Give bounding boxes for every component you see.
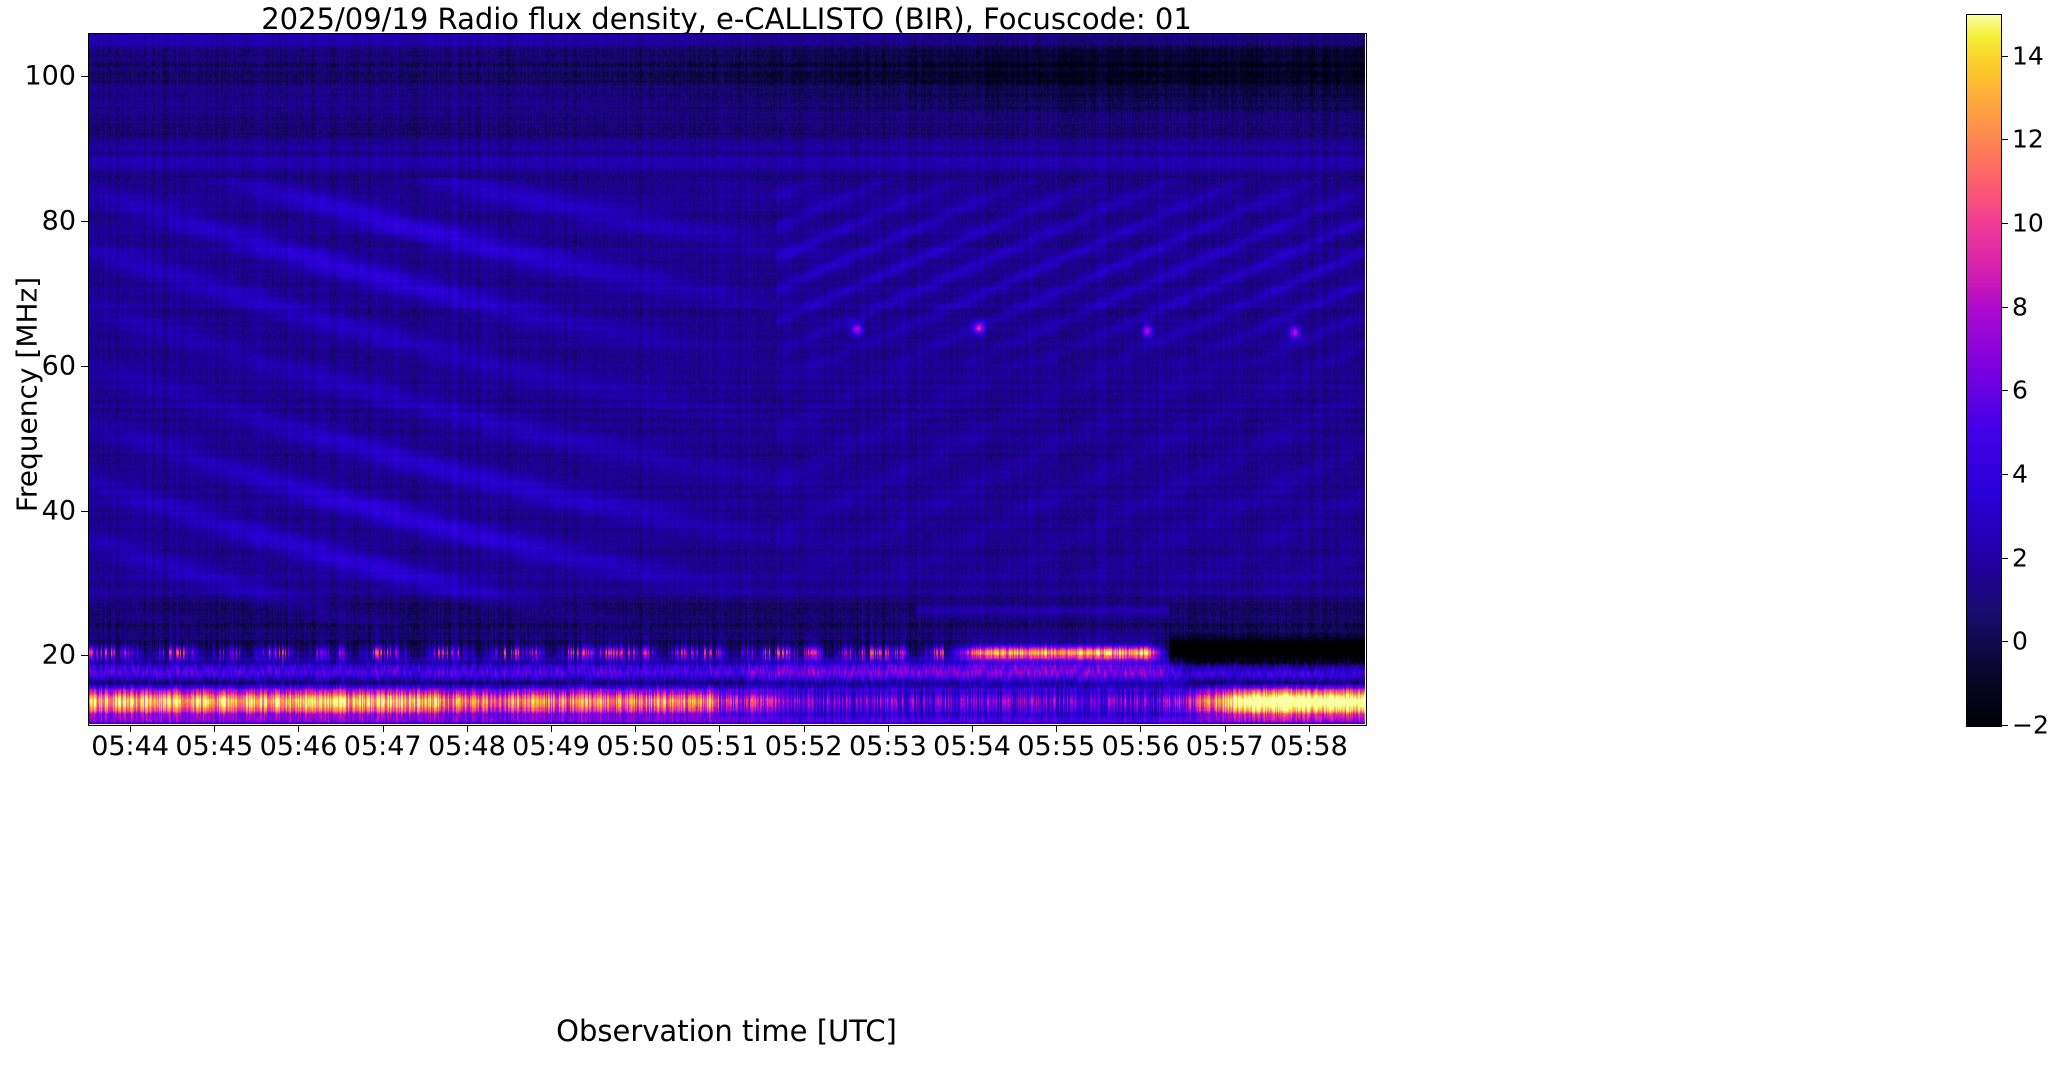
colorbar-tick-mark: [2001, 725, 2008, 726]
x-tick-label: 05:56: [1102, 731, 1180, 762]
colorbar-tick-label: 6: [2012, 376, 2028, 405]
x-tick-label: 05:51: [681, 731, 759, 762]
x-tick-label: 05:53: [849, 731, 927, 762]
x-tick-mark: [383, 725, 384, 732]
x-tick-mark: [1225, 725, 1226, 732]
colorbar-tick-label: 8: [2012, 292, 2028, 321]
x-tick-mark: [635, 725, 636, 732]
x-tick-mark: [1140, 725, 1141, 732]
x-tick-mark: [804, 725, 805, 732]
spectrogram-image[interactable]: [88, 33, 1365, 724]
colorbar-tick-mark: [2001, 390, 2008, 391]
colorbar-tick-mark: [2001, 307, 2008, 308]
colorbar-tick-label: 10: [2012, 209, 2044, 238]
x-tick-label: 05:48: [428, 731, 506, 762]
x-tick-label: 05:55: [1017, 731, 1095, 762]
y-tick-mark: [81, 366, 88, 367]
x-tick-label: 05:58: [1270, 731, 1348, 762]
colorbar-tick-mark: [2001, 56, 2008, 57]
x-tick-label: 05:45: [175, 731, 253, 762]
y-tick-label: 40: [42, 495, 76, 526]
colorbar-tick-mark: [2001, 641, 2008, 642]
y-tick-mark: [81, 76, 88, 77]
x-tick-label: 05:54: [933, 731, 1011, 762]
colorbar-tick-mark: [2001, 139, 2008, 140]
colorbar-tick-mark: [2001, 223, 2008, 224]
x-tick-mark: [719, 725, 720, 732]
colorbar-tick-label: 12: [2012, 125, 2044, 154]
x-tick-label: 05:47: [344, 731, 422, 762]
x-tick-label: 05:50: [596, 731, 674, 762]
x-tick-mark: [1056, 725, 1057, 732]
figure-canvas: 2025/09/19 Radio flux density, e-CALLIST…: [0, 0, 2066, 1067]
colorbar-tick-label: 2: [2012, 543, 2028, 572]
y-axis-label: Frequency [MHz]: [11, 135, 44, 655]
colorbar-tick-mark: [2001, 474, 2008, 475]
chart-title: 2025/09/19 Radio flux density, e-CALLIST…: [88, 2, 1365, 36]
x-tick-mark: [214, 725, 215, 732]
x-tick-mark: [1309, 725, 1310, 732]
colorbar[interactable]: [1966, 14, 2002, 727]
x-tick-mark: [888, 725, 889, 732]
x-tick-label: 05:49: [512, 731, 590, 762]
colorbar-tick-label: 14: [2012, 41, 2044, 70]
x-tick-label: 05:46: [260, 731, 338, 762]
y-tick-label: 20: [42, 640, 76, 671]
colorbar-tick-label: 0: [2012, 627, 2028, 656]
colorbar-tick-label: 4: [2012, 460, 2028, 489]
colorbar-tick-label: −2: [2012, 711, 2049, 740]
y-tick-mark: [81, 655, 88, 656]
y-tick-label: 80: [42, 206, 76, 237]
x-axis-label: Observation time [UTC]: [88, 1014, 1365, 1048]
x-tick-mark: [972, 725, 973, 732]
x-tick-mark: [467, 725, 468, 732]
colorbar-gradient: [1967, 15, 2001, 726]
x-tick-label: 05:57: [1186, 731, 1264, 762]
spectrogram-axes[interactable]: [88, 33, 1365, 724]
x-tick-label: 05:52: [765, 731, 843, 762]
y-tick-mark: [81, 511, 88, 512]
x-tick-mark: [130, 725, 131, 732]
x-tick-mark: [298, 725, 299, 732]
y-tick-label: 60: [42, 350, 76, 381]
x-tick-label: 05:44: [91, 731, 169, 762]
x-tick-mark: [551, 725, 552, 732]
y-tick-mark: [81, 221, 88, 222]
y-tick-label: 100: [24, 61, 76, 92]
colorbar-tick-mark: [2001, 558, 2008, 559]
